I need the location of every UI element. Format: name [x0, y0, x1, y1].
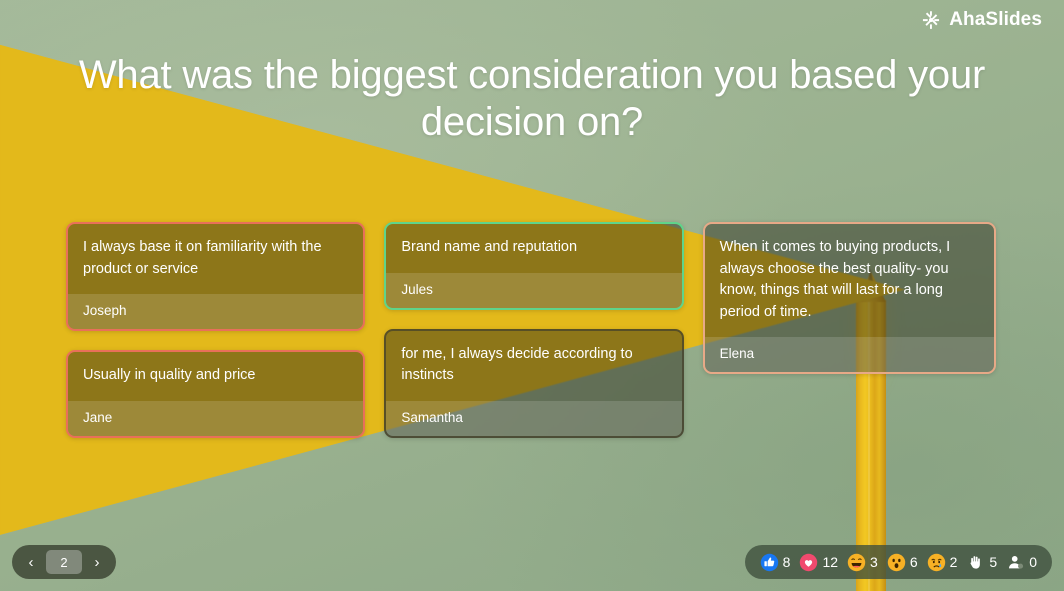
answer-author: Samantha [386, 401, 681, 436]
answer-text: Usually in quality and price [68, 352, 363, 401]
reaction-count: 12 [822, 554, 838, 570]
answer-text: Brand name and reputation [386, 224, 681, 273]
reaction-wow[interactable]: 6 [884, 553, 921, 572]
answer-author: Elena [705, 337, 994, 372]
person-icon [1006, 553, 1025, 572]
page-title: What was the biggest consideration you b… [55, 52, 1009, 146]
answers-board: I always base it on familiarity with the… [66, 222, 996, 438]
brand-name: AhaSlides [949, 9, 1042, 31]
reaction-raise-hand[interactable]: 5 [963, 553, 1000, 572]
laugh-icon [847, 553, 866, 572]
answer-text: When it comes to buying products, I alwa… [705, 224, 994, 337]
page-number[interactable]: 2 [46, 550, 82, 574]
answer-text: I always base it on familiarity with the… [68, 224, 363, 294]
ahaslides-sparkle-icon [920, 9, 942, 31]
answer-author: Joseph [68, 294, 363, 329]
sad-icon [927, 553, 946, 572]
thumbs-up-icon [760, 553, 779, 572]
reaction-count: 5 [989, 554, 997, 570]
slide-canvas: AhaSlides What was the biggest considera… [0, 0, 1064, 591]
reaction-count: 6 [910, 554, 918, 570]
answers-column-2: Brand name and reputation Jules for me, … [384, 222, 683, 438]
reaction-haha[interactable]: 3 [844, 553, 881, 572]
answer-author: Jules [386, 273, 681, 308]
answer-card[interactable]: I always base it on familiarity with the… [66, 222, 365, 331]
answers-column-3: When it comes to buying products, I alwa… [703, 222, 996, 374]
pagination: ‹ 2 › [12, 545, 116, 579]
reaction-audience[interactable]: 0 [1003, 553, 1040, 572]
answer-author: Jane [68, 401, 363, 436]
answer-card[interactable]: When it comes to buying products, I alwa… [703, 222, 996, 374]
reaction-sad[interactable]: 2 [924, 553, 961, 572]
answer-card[interactable]: Brand name and reputation Jules [384, 222, 683, 310]
heart-icon [799, 553, 818, 572]
answer-text: for me, I always decide according to ins… [386, 331, 681, 401]
answer-card[interactable]: for me, I always decide according to ins… [384, 329, 683, 438]
raised-hand-icon [966, 553, 985, 572]
wow-icon [887, 553, 906, 572]
chevron-left-icon[interactable]: ‹ [19, 550, 43, 574]
answer-card[interactable]: Usually in quality and price Jane [66, 350, 365, 438]
reaction-like[interactable]: 8 [757, 553, 794, 572]
reaction-count: 0 [1029, 554, 1037, 570]
brand-logo: AhaSlides [920, 9, 1042, 31]
reaction-count: 3 [870, 554, 878, 570]
answers-column-1: I always base it on familiarity with the… [66, 222, 365, 438]
chevron-right-icon[interactable]: › [85, 550, 109, 574]
reaction-bar: 8 12 3 [745, 545, 1052, 579]
reaction-count: 2 [950, 554, 958, 570]
reaction-love[interactable]: 12 [796, 553, 841, 572]
reaction-count: 8 [783, 554, 791, 570]
